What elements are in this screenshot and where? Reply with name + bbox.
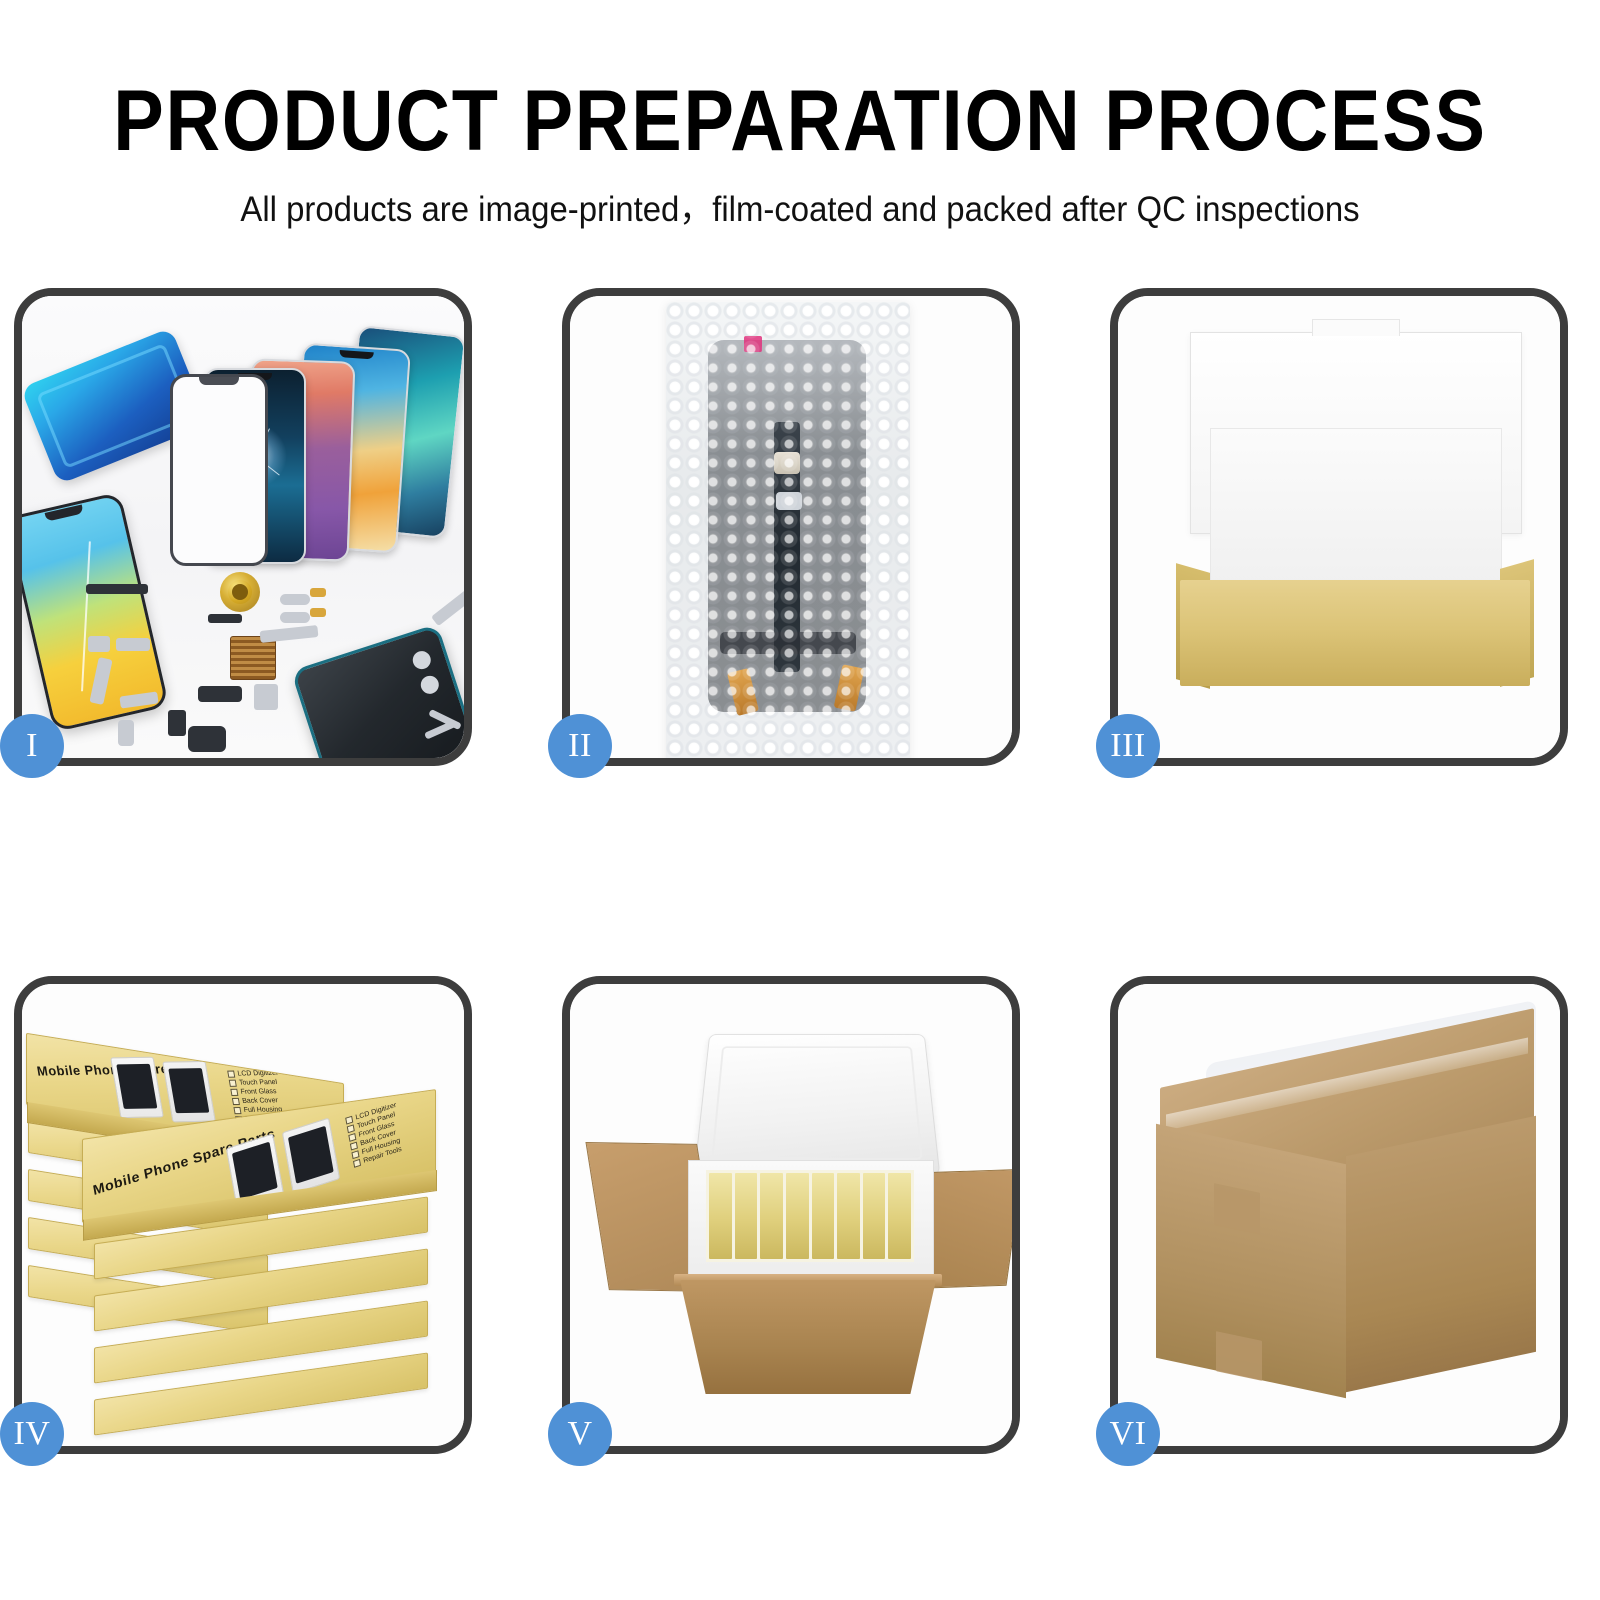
- packed-box: [709, 1173, 732, 1259]
- lid-tab: [1312, 319, 1400, 336]
- step-panel-4: Mobile Phone Spare Parts LCD Digitizer T…: [14, 976, 472, 1454]
- small-connector-part: [208, 614, 242, 623]
- sim-tray-part: [118, 720, 134, 746]
- ic-chip-part: [230, 636, 276, 680]
- packed-boxes-row: [706, 1170, 914, 1262]
- page-title: PRODUCT PREPARATION PROCESS: [96, 78, 1504, 164]
- flex-connector-2: [776, 492, 802, 510]
- step-panel-2: II: [562, 288, 1020, 766]
- carton-front-wall: [680, 1280, 936, 1394]
- front-glass-panel: [170, 374, 268, 566]
- box-front-wall: [1180, 580, 1530, 686]
- packing-tape-lower: [1216, 1331, 1262, 1381]
- retail-box-checklist: LCD Digitizer Touch Panel Front Glass Ba…: [345, 1101, 405, 1169]
- power-flex-part: [280, 594, 310, 605]
- bubble-wrap-photo: [570, 296, 1012, 758]
- sensor-flex-part: [116, 638, 150, 651]
- wireless-charging-coil: [220, 572, 260, 612]
- bubble-wrap-sheet: [666, 302, 910, 758]
- packed-box: [786, 1173, 809, 1259]
- packed-box: [863, 1173, 886, 1259]
- step-badge-4: IV: [0, 1402, 64, 1466]
- gold-contact-part: [310, 588, 326, 597]
- vibration-motor-part: [198, 686, 242, 702]
- volume-flex-part: [280, 612, 310, 623]
- checklist-item: LCD Digitizer: [237, 1070, 279, 1078]
- step-badge-2: II: [548, 714, 612, 778]
- step-panel-6: VI: [1110, 976, 1568, 1454]
- step-badge-1: I: [0, 714, 64, 778]
- packed-box: [812, 1173, 835, 1259]
- spare-parts-photo: [22, 296, 464, 758]
- sealed-carton-photo: [1118, 984, 1560, 1446]
- speaker-part: [188, 726, 226, 752]
- retail-box-stack-photo: Mobile Phone Spare Parts LCD Digitizer T…: [22, 984, 464, 1446]
- checklist-item: Back Cover: [242, 1097, 279, 1105]
- step-badge-6: VI: [1096, 1402, 1160, 1466]
- gold-contact-part-2: [310, 608, 326, 617]
- step-panel-3: III: [1110, 288, 1568, 766]
- loudspeaker-part: [254, 684, 278, 710]
- retail-box-product-photo-2: [162, 1061, 216, 1123]
- carton-right-face: [1346, 1116, 1536, 1392]
- foam-carton-photo: [570, 984, 1012, 1446]
- header: PRODUCT PREPARATION PROCESS All products…: [0, 0, 1600, 227]
- foam-lid: [694, 1034, 941, 1176]
- checklist-item: Front Glass: [240, 1088, 277, 1096]
- step-badge-5: V: [548, 1402, 612, 1466]
- bracket-part: [168, 710, 186, 736]
- earpiece-mesh-part: [86, 584, 148, 594]
- step-panel-1: I: [14, 288, 472, 766]
- checklist-item: Touch Panel: [239, 1079, 278, 1087]
- packed-box: [837, 1173, 860, 1259]
- flex-connector: [774, 452, 800, 474]
- lower-flex-board: [720, 632, 856, 654]
- process-steps-grid: I II: [0, 276, 1600, 1496]
- page-subtitle: All products are image-printed，film-coat…: [48, 192, 1552, 227]
- phone-lineup: [170, 324, 464, 554]
- retail-box-product-photo-2: [282, 1117, 340, 1193]
- white-foam-sheet: [1210, 428, 1502, 588]
- packed-box: [888, 1173, 911, 1259]
- packed-box: [735, 1173, 758, 1259]
- step-panel-5: V: [562, 976, 1020, 1454]
- inner-box-photo: [1118, 296, 1560, 758]
- camera-module-part: [88, 636, 110, 652]
- step-badge-3: III: [1096, 714, 1160, 778]
- packed-box: [760, 1173, 783, 1259]
- pink-label-tab: [744, 336, 762, 352]
